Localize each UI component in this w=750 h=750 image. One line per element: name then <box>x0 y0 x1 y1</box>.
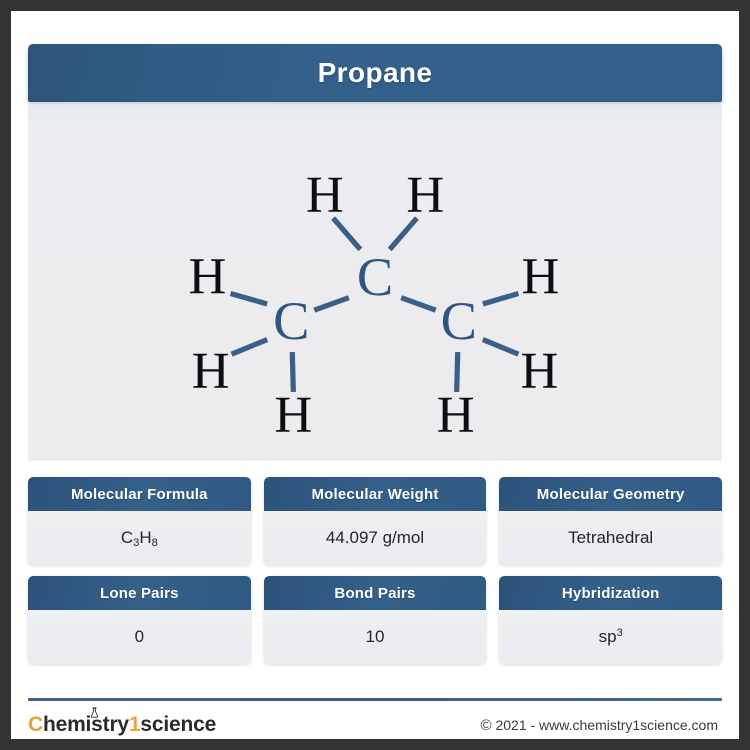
atom-hydrogen-lower-left: H <box>192 342 230 400</box>
card-body: 44.097 g/mol <box>264 511 487 565</box>
title-bar: Propane <box>28 44 722 102</box>
card-value: sp3 <box>599 627 623 647</box>
property-card-row: Molecular Formula C3H8 Molecular Weight … <box>28 477 722 565</box>
bond-c3-h-lower-right <box>483 340 519 355</box>
brand-logo-one: 1 <box>129 713 140 736</box>
copyright-symbol: © <box>481 717 492 734</box>
brand-logo-c: C <box>28 713 43 736</box>
atom-carbon-left: C <box>273 290 309 351</box>
atom-hydrogen-upper-left: H <box>189 248 227 306</box>
brand-logo-mid: hemistry <box>43 713 129 736</box>
card-value: 44.097 g/mol <box>326 528 424 548</box>
bond-c3-h-upper-right <box>483 293 519 303</box>
property-card-molecular-geometry: Molecular Geometry Tetrahedral <box>499 477 722 565</box>
atom-hydrogen-top-right: H <box>406 166 444 224</box>
card-body: sp3 <box>499 610 722 664</box>
atom-carbon-center: C <box>357 246 393 307</box>
outer-frame: Propane H H <box>0 0 750 750</box>
card-header: Molecular Weight <box>264 477 487 511</box>
card-header-label: Hybridization <box>562 585 660 602</box>
card-header: Molecular Formula <box>28 477 251 511</box>
card-header-label: Lone Pairs <box>100 585 179 602</box>
property-card-hybridization: Hybridization sp3 <box>499 576 722 664</box>
bond-c1-h-lower-left <box>232 340 268 355</box>
copyright-body: 2021 - www.chemistry1science.com <box>495 717 718 733</box>
card-header-label: Molecular Geometry <box>537 486 685 503</box>
lewis-structure-diagram: H H C H C C H H H H H <box>28 105 722 461</box>
atom-group: H H C H C C H H H H H <box>189 166 560 444</box>
atom-hydrogen-top-left: H <box>306 166 344 224</box>
property-card-bond-pairs: Bond Pairs 10 <box>264 576 487 664</box>
card-header: Hybridization <box>499 576 722 610</box>
footer-divider <box>28 698 722 701</box>
bond-c2-c3 <box>401 298 436 311</box>
atom-hydrogen-lower-right: H <box>520 342 558 400</box>
card-value: 10 <box>366 627 385 647</box>
card-body: C3H8 <box>28 511 251 565</box>
card-header-label: Molecular Formula <box>71 486 208 503</box>
property-card-row: Lone Pairs 0 Bond Pairs 10 H <box>28 576 722 664</box>
atom-hydrogen-upper-right: H <box>522 248 560 306</box>
card-header: Lone Pairs <box>28 576 251 610</box>
page-title: Propane <box>318 57 433 89</box>
card-body: 10 <box>264 610 487 664</box>
card-header: Bond Pairs <box>264 576 487 610</box>
card-value: 0 <box>135 627 144 647</box>
property-card-lone-pairs: Lone Pairs 0 <box>28 576 251 664</box>
card-header-label: Molecular Weight <box>311 486 438 503</box>
card-header-label: Bond Pairs <box>334 585 415 602</box>
card-value: Tetrahedral <box>568 528 653 548</box>
molecule-panel: H H C H C C H H H H H <box>28 105 722 461</box>
bond-c1-h-upper-left <box>231 293 268 303</box>
property-card-molecular-formula: Molecular Formula C3H8 <box>28 477 251 565</box>
flask-icon <box>90 707 99 718</box>
card-body: 0 <box>28 610 251 664</box>
bond-c2-c1 <box>314 298 349 311</box>
atom-carbon-right: C <box>441 290 477 351</box>
card-body: Tetrahedral <box>499 511 722 565</box>
card-value: C3H8 <box>121 528 158 549</box>
property-card-molecular-weight: Molecular Weight 44.097 g/mol <box>264 477 487 565</box>
card-header: Molecular Geometry <box>499 477 722 511</box>
brand-logo-end: science <box>140 713 216 736</box>
page-canvas: Propane H H <box>11 11 739 739</box>
property-card-grid: Molecular Formula C3H8 Molecular Weight … <box>28 477 722 664</box>
atom-hydrogen-bottom-right: H <box>437 386 475 444</box>
atom-hydrogen-bottom-left: H <box>274 386 312 444</box>
footer: Chemistry1science © 2021 - www.chemistry… <box>28 708 722 742</box>
brand-logo[interactable]: Chemistry1science <box>28 713 216 737</box>
copyright-text: © 2021 - www.chemistry1science.com <box>481 717 722 734</box>
